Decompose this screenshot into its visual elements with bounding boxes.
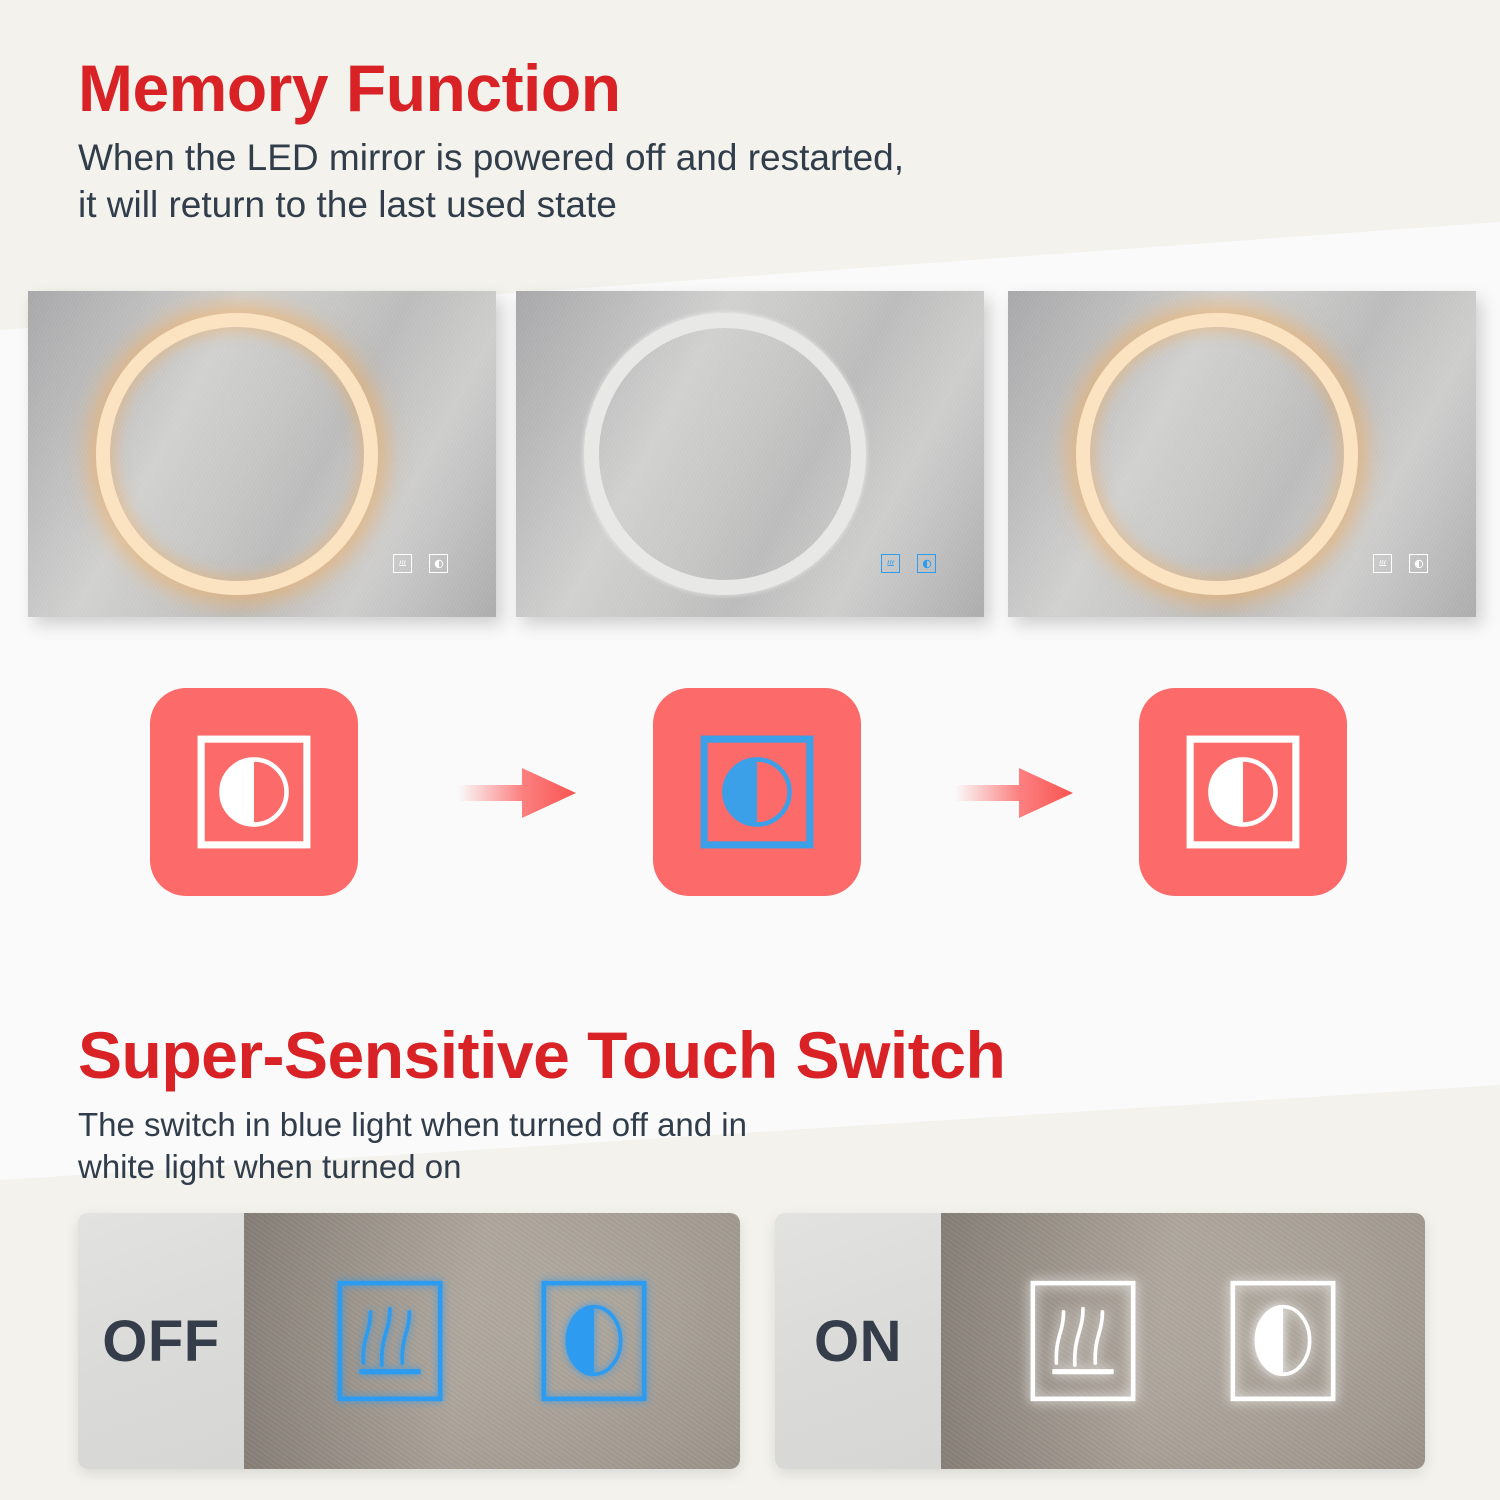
- mirror-led-on-before: [28, 291, 496, 617]
- step-arrow-1: [458, 762, 580, 824]
- switch-off-icons: [244, 1213, 740, 1469]
- switch-on-label-area: ON: [775, 1213, 941, 1469]
- memory-function-heading-block: Memory Function When the LED mirror is p…: [78, 55, 904, 228]
- mirror-touch-controls: [1373, 554, 1428, 573]
- brightness-icon: [1182, 731, 1304, 853]
- touch-switch-heading-block: Super-Sensitive Touch Switch The switch …: [78, 1022, 1005, 1187]
- switch-off-plate: [244, 1213, 740, 1469]
- defogger-icon[interactable]: [881, 554, 900, 573]
- mirror-led-off: [516, 291, 984, 617]
- mirror-led-on-restored: [1008, 291, 1476, 617]
- switch-comparison: OFF: [0, 1213, 1500, 1469]
- brightness-icon: [696, 731, 818, 853]
- step-button-on[interactable]: [150, 688, 358, 896]
- mirror-touch-controls: [393, 554, 448, 573]
- mirror-sequence: [0, 291, 1500, 621]
- defogger-icon[interactable]: [1024, 1277, 1142, 1405]
- touch-switch-subtitle: The switch in blue light when turned off…: [78, 1104, 1005, 1187]
- brightness-icon[interactable]: [429, 554, 448, 573]
- defogger-icon[interactable]: [1373, 554, 1392, 573]
- led-ring-warm: [1076, 313, 1358, 595]
- brightness-icon[interactable]: [535, 1277, 653, 1405]
- led-ring-warm: [96, 313, 378, 595]
- step-button-restored[interactable]: [1139, 688, 1347, 896]
- brightness-icon[interactable]: [1224, 1277, 1342, 1405]
- touch-switch-title: Super-Sensitive Touch Switch: [78, 1022, 1005, 1088]
- step-sequence: [0, 688, 1500, 898]
- step-arrow-2: [955, 762, 1077, 824]
- brightness-icon[interactable]: [917, 554, 936, 573]
- switch-off-label-area: OFF: [78, 1213, 244, 1469]
- switch-on-plate: [941, 1213, 1425, 1469]
- defogger-icon[interactable]: [331, 1277, 449, 1405]
- switch-on-label: ON: [814, 1308, 902, 1375]
- switch-panel-off: OFF: [78, 1213, 740, 1469]
- memory-function-subtitle: When the LED mirror is powered off and r…: [78, 135, 904, 228]
- mirror-touch-controls: [881, 554, 936, 573]
- memory-function-title: Memory Function: [78, 55, 904, 121]
- defogger-icon[interactable]: [393, 554, 412, 573]
- switch-off-label: OFF: [102, 1308, 219, 1375]
- step-button-pressed[interactable]: [653, 688, 861, 896]
- led-ring-off: [584, 313, 866, 595]
- brightness-icon: [193, 731, 315, 853]
- switch-panel-on: ON: [775, 1213, 1425, 1469]
- brightness-icon[interactable]: [1409, 554, 1428, 573]
- switch-on-icons: [941, 1213, 1425, 1469]
